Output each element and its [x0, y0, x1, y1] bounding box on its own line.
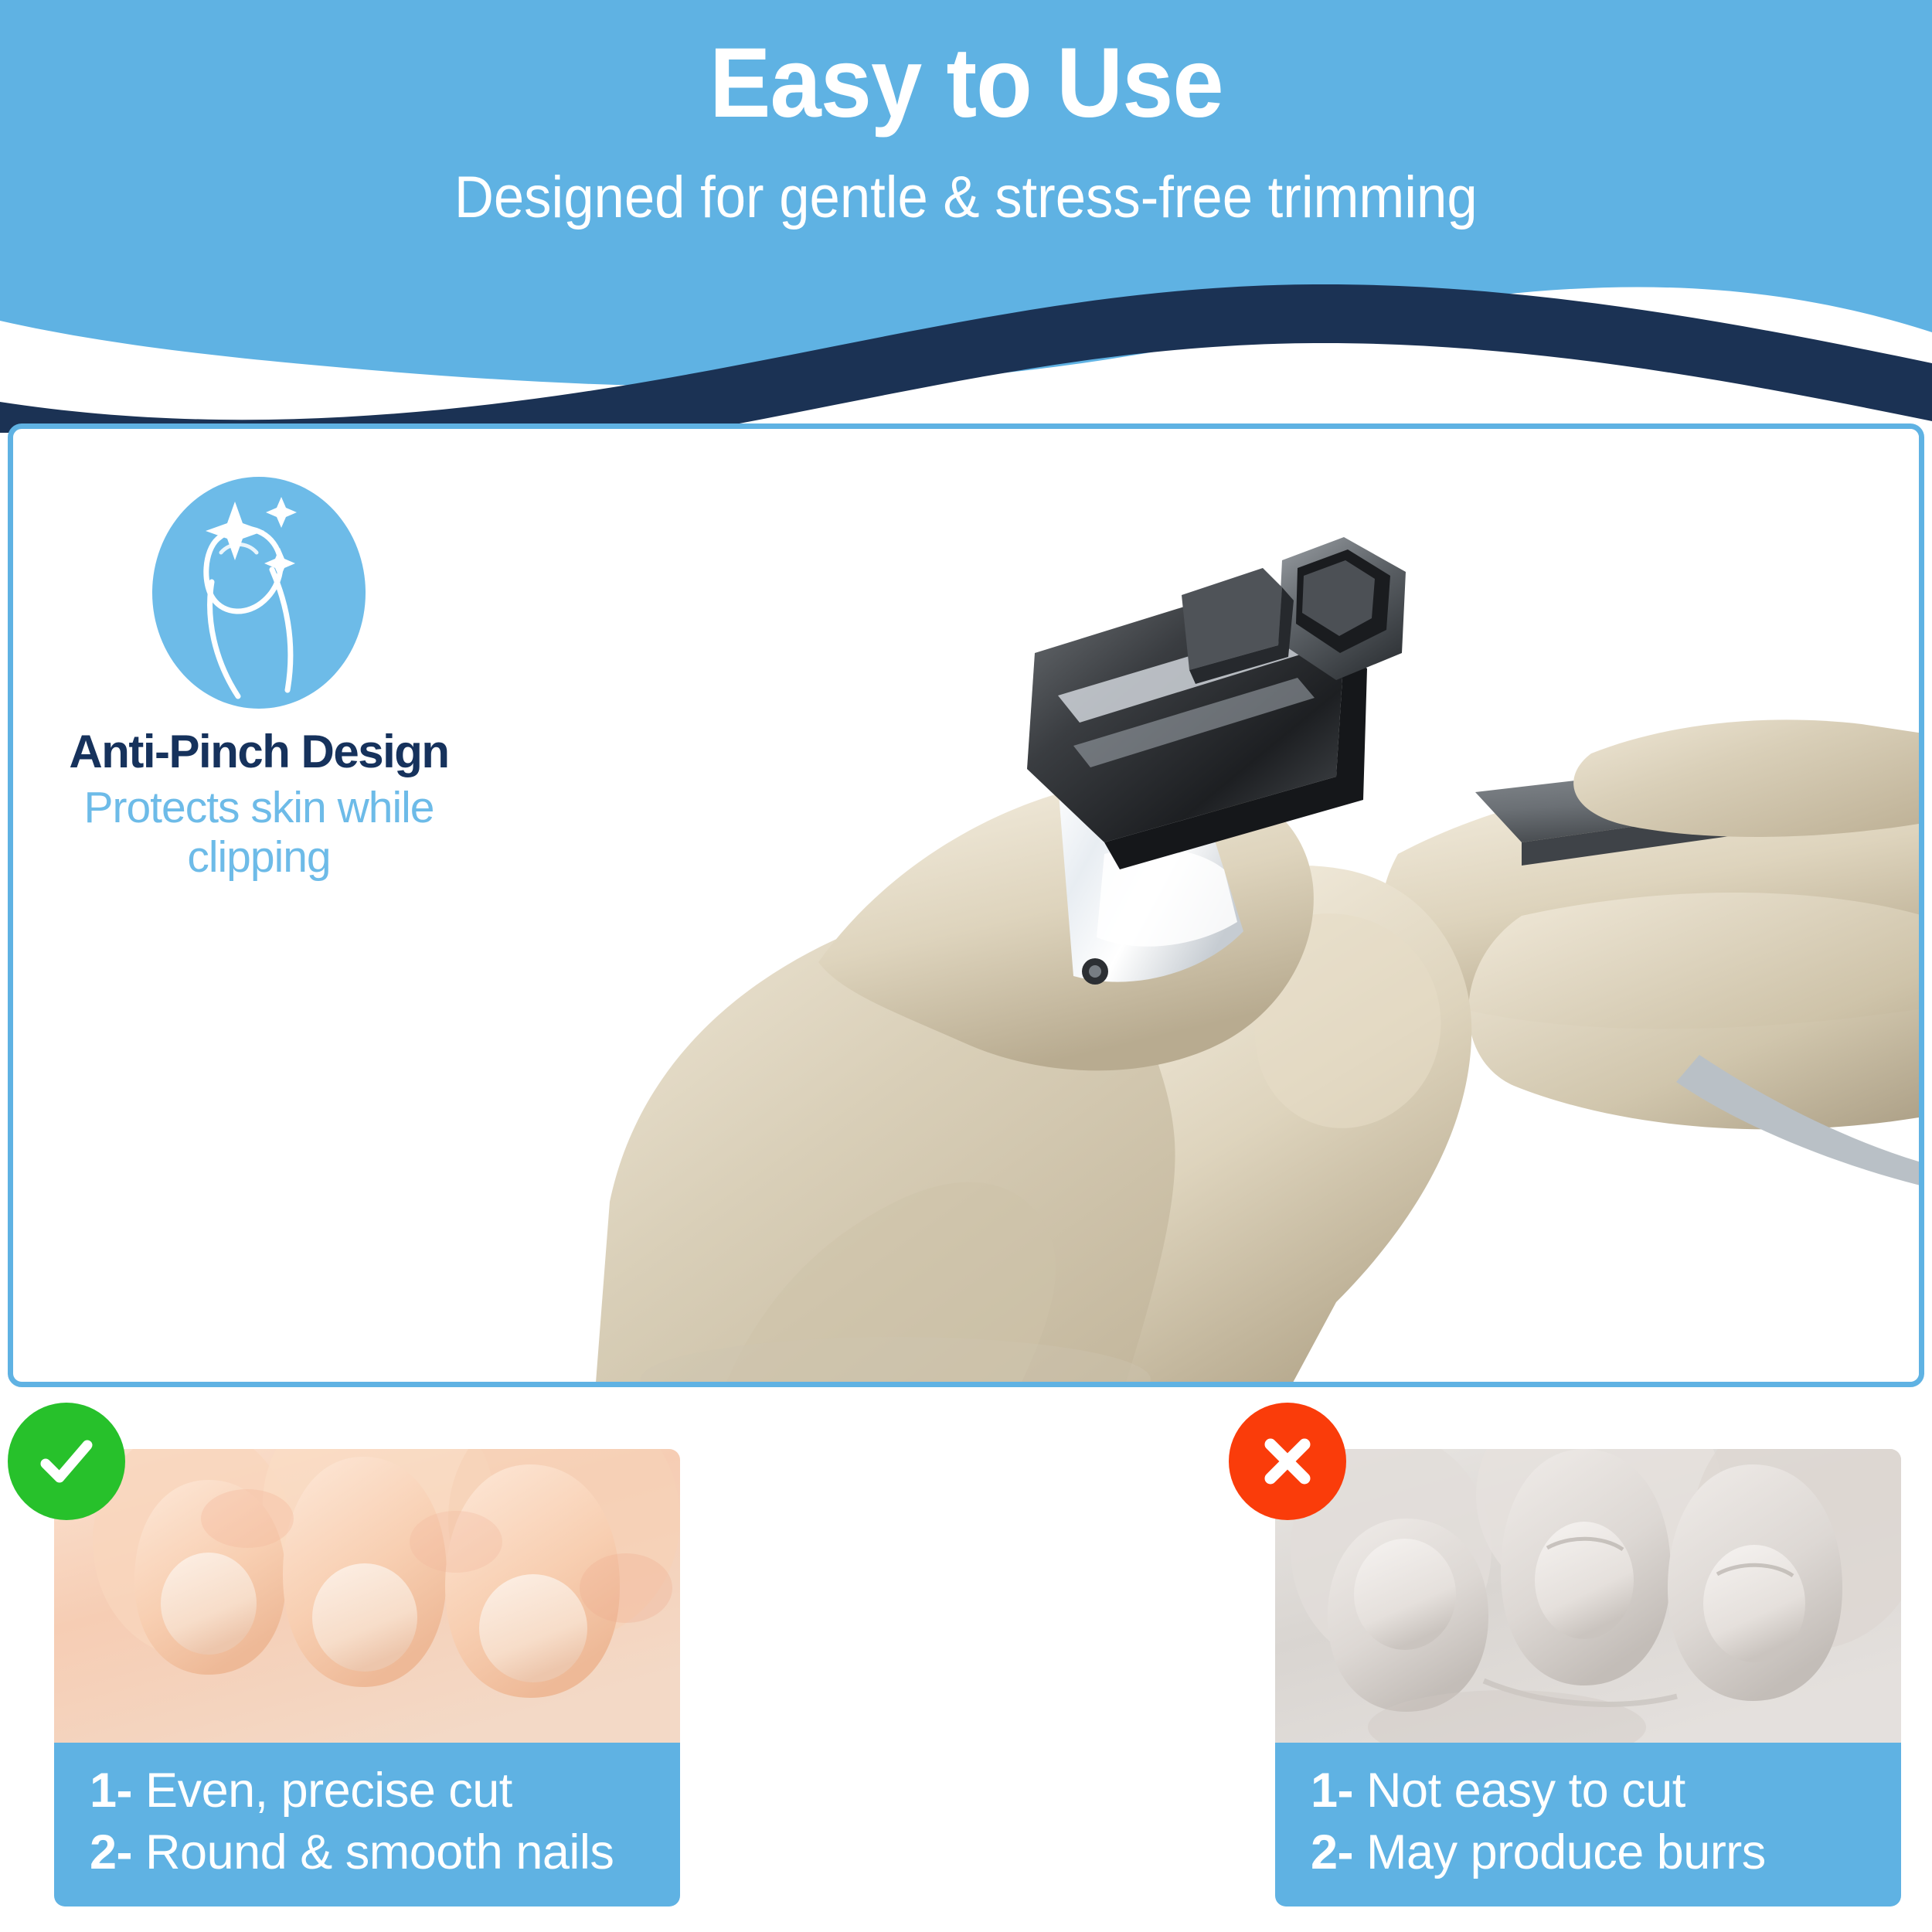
- caption-text: Not easy to cut: [1366, 1764, 1685, 1818]
- sparkle-nail-icon-svg: [144, 475, 374, 715]
- feature-panel: Anti-Pinch Design Protects skin while cl…: [8, 423, 1924, 1387]
- check-glyph: [33, 1428, 100, 1495]
- caption-number: 1-: [1311, 1764, 1353, 1818]
- sparkle-nail-icon: [144, 475, 374, 715]
- caption-number: 2-: [1311, 1825, 1353, 1879]
- toenails-photo-ours: [54, 1449, 680, 1743]
- caption-others: 1- Not easy to cut 2- May produce burrs: [1275, 1743, 1901, 1906]
- comparison-card-ours: 1- Even, precise cut 2- Round & smooth n…: [54, 1449, 680, 1906]
- cross-glyph: [1257, 1430, 1318, 1492]
- header-wave-shape: [0, 0, 1932, 433]
- toenails-photo-others: [1275, 1449, 1901, 1743]
- caption-text: May produce burrs: [1366, 1825, 1766, 1879]
- caption-number: 1-: [90, 1764, 132, 1818]
- caption-line: 1- Not easy to cut: [1311, 1760, 1901, 1821]
- nail-clipper-render: [563, 423, 1923, 1387]
- caption-text: Round & smooth nails: [145, 1825, 614, 1879]
- caption-line: 1- Even, precise cut: [90, 1760, 680, 1821]
- comparison-card-others: 1- Not easy to cut 2- May produce burrs: [1275, 1449, 1901, 1906]
- untrimmed-toenails-photo: [1275, 1449, 1901, 1743]
- caption-line: 2- Round & smooth nails: [90, 1821, 680, 1883]
- caption-text: Even, precise cut: [145, 1764, 512, 1818]
- trimmed-toenails-photo: [54, 1449, 680, 1743]
- feature-block: Anti-Pinch Design Protects skin while cl…: [27, 475, 491, 883]
- check-icon: [8, 1403, 125, 1520]
- caption-ours: 1- Even, precise cut 2- Round & smooth n…: [54, 1743, 680, 1906]
- infographic-page: Easy to Use Designed for gentle & stress…: [0, 0, 1932, 1932]
- header-banner: [0, 0, 1932, 433]
- caption-number: 2-: [90, 1825, 132, 1879]
- product-image: [563, 423, 1923, 1387]
- comparison-section: 1- Even, precise cut 2- Round & smooth n…: [0, 1434, 1932, 1913]
- feature-title: Anti-Pinch Design: [27, 727, 491, 776]
- cross-icon: [1229, 1403, 1346, 1520]
- feature-subtitle: Protects skin while clipping: [27, 784, 491, 883]
- caption-line: 2- May produce burrs: [1311, 1821, 1901, 1883]
